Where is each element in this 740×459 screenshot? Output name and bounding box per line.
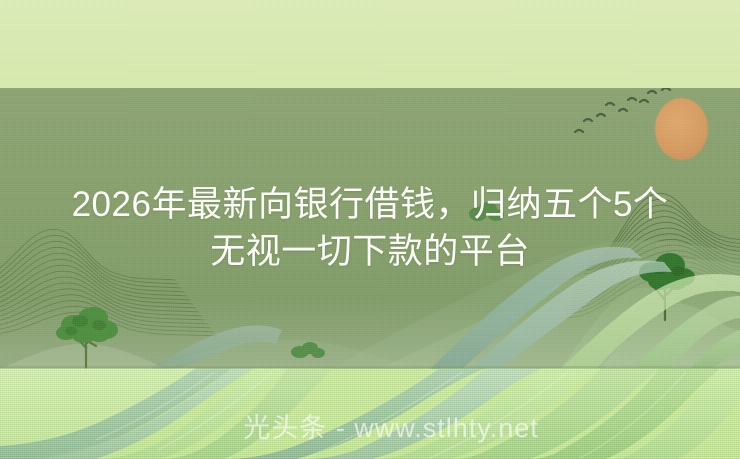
scene-artwork xyxy=(0,0,740,459)
poster-canvas: 2026年最新向银行借钱，归纳五个5个 无视一切下款的平台 光头条 - www.… xyxy=(0,0,740,459)
shrub-left xyxy=(469,202,504,221)
flying-birds-flock xyxy=(575,88,670,132)
